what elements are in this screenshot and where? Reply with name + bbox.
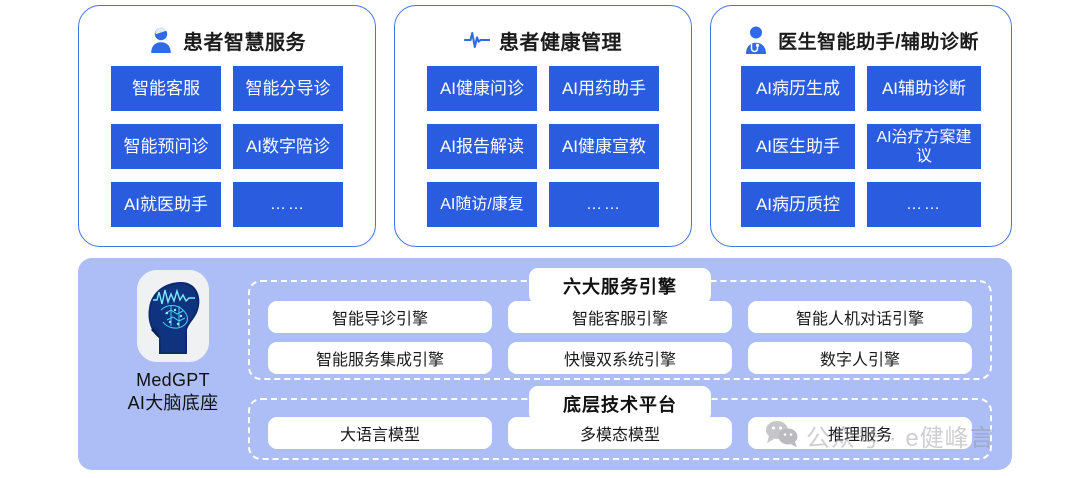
section-tech-platform: 底层技术平台 大语言模型 多模态模型 推理服务 bbox=[248, 398, 992, 460]
ai-brain-head-icon bbox=[137, 270, 209, 362]
tile-item[interactable]: AI就医助手 bbox=[111, 182, 221, 227]
tile-item-more[interactable]: …… bbox=[549, 182, 659, 227]
tile-item[interactable]: 智能预问诊 bbox=[111, 124, 221, 169]
capability-panels-row: 患者智慧服务 智能客服 智能分导诊 智能预问诊 AI数字陪诊 AI就医助手 ……… bbox=[78, 5, 1012, 247]
engine-item[interactable]: 智能人机对话引擎 bbox=[748, 301, 972, 333]
tile-item[interactable]: 智能分导诊 bbox=[233, 66, 343, 111]
tile-item-more[interactable]: …… bbox=[233, 182, 343, 227]
tile-item[interactable]: AI随访/康复 bbox=[427, 182, 537, 227]
engine-item[interactable]: 智能客服引擎 bbox=[508, 301, 732, 333]
platform-grid: 大语言模型 多模态模型 推理服务 bbox=[250, 417, 990, 449]
tile-item[interactable]: AI报告解读 bbox=[427, 124, 537, 169]
section-six-service-engines: 六大服务引擎 智能导诊引擎 智能客服引擎 智能人机对话引擎 智能服务集成引擎 快… bbox=[248, 280, 992, 380]
engine-item[interactable]: 数字人引擎 bbox=[748, 342, 972, 374]
tile-grid: 智能客服 智能分导诊 智能预问诊 AI数字陪诊 AI就医助手 …… bbox=[79, 66, 375, 227]
platform-item[interactable]: 大语言模型 bbox=[268, 417, 492, 449]
tile-grid: AI健康问诊 AI用药助手 AI报告解读 AI健康宣教 AI随访/康复 …… bbox=[395, 66, 691, 227]
heartbeat-pulse-icon bbox=[464, 25, 490, 55]
brand-subtitle: AI大脑底座 bbox=[128, 392, 219, 415]
tile-item[interactable]: AI治疗方案建议 bbox=[867, 124, 981, 169]
engine-item[interactable]: 智能服务集成引擎 bbox=[268, 342, 492, 374]
brand-block: MedGPT AI大脑底座 bbox=[98, 270, 248, 460]
tile-item[interactable]: AI健康问诊 bbox=[427, 66, 537, 111]
engine-item[interactable]: 快慢双系统引擎 bbox=[508, 342, 732, 374]
engine-grid: 智能导诊引擎 智能客服引擎 智能人机对话引擎 智能服务集成引擎 快慢双系统引擎 … bbox=[250, 301, 990, 374]
tile-item[interactable]: AI病历生成 bbox=[741, 66, 855, 111]
tile-item[interactable]: AI医生助手 bbox=[741, 124, 855, 169]
tile-item-more[interactable]: …… bbox=[867, 182, 981, 227]
panel-title: 患者健康管理 bbox=[499, 26, 622, 55]
tile-item[interactable]: AI用药助手 bbox=[549, 66, 659, 111]
patient-person-icon bbox=[148, 25, 174, 55]
tile-grid: AI病历生成 AI辅助诊断 AI医生助手 AI治疗方案建议 AI病历质控 …… bbox=[711, 66, 1011, 227]
tile-item[interactable]: AI健康宣教 bbox=[549, 124, 659, 169]
tile-item[interactable]: AI辅助诊断 bbox=[867, 66, 981, 111]
panel-header: 患者健康管理 bbox=[464, 20, 622, 60]
section-label: 六大服务引擎 bbox=[529, 268, 711, 304]
engine-item[interactable]: 智能导诊引擎 bbox=[268, 301, 492, 333]
brand-name: MedGPT bbox=[128, 369, 219, 392]
brand-label: MedGPT AI大脑底座 bbox=[128, 369, 219, 415]
panel-title: 患者智慧服务 bbox=[183, 26, 306, 55]
platform-item[interactable]: 多模态模型 bbox=[508, 417, 732, 449]
doctor-stethoscope-icon bbox=[743, 25, 769, 55]
ai-foundation-base: MedGPT AI大脑底座 六大服务引擎 智能导诊引擎 智能客服引擎 智能人机对… bbox=[78, 258, 1012, 470]
panel-doctor-assistant-diagnosis: 医生智能助手/辅助诊断 AI病历生成 AI辅助诊断 AI医生助手 AI治疗方案建… bbox=[710, 5, 1012, 247]
tile-item[interactable]: 智能客服 bbox=[111, 66, 221, 111]
tile-item[interactable]: AI数字陪诊 bbox=[233, 124, 343, 169]
platform-item[interactable]: 推理服务 bbox=[748, 417, 972, 449]
panel-header: 患者智慧服务 bbox=[148, 20, 306, 60]
panel-header: 医生智能助手/辅助诊断 bbox=[743, 20, 979, 60]
tile-item[interactable]: AI病历质控 bbox=[741, 182, 855, 227]
panel-title: 医生智能助手/辅助诊断 bbox=[778, 27, 979, 54]
panel-patient-smart-service: 患者智慧服务 智能客服 智能分导诊 智能预问诊 AI数字陪诊 AI就医助手 …… bbox=[78, 5, 376, 247]
panel-patient-health-management: 患者健康管理 AI健康问诊 AI用药助手 AI报告解读 AI健康宣教 AI随访/… bbox=[394, 5, 692, 247]
